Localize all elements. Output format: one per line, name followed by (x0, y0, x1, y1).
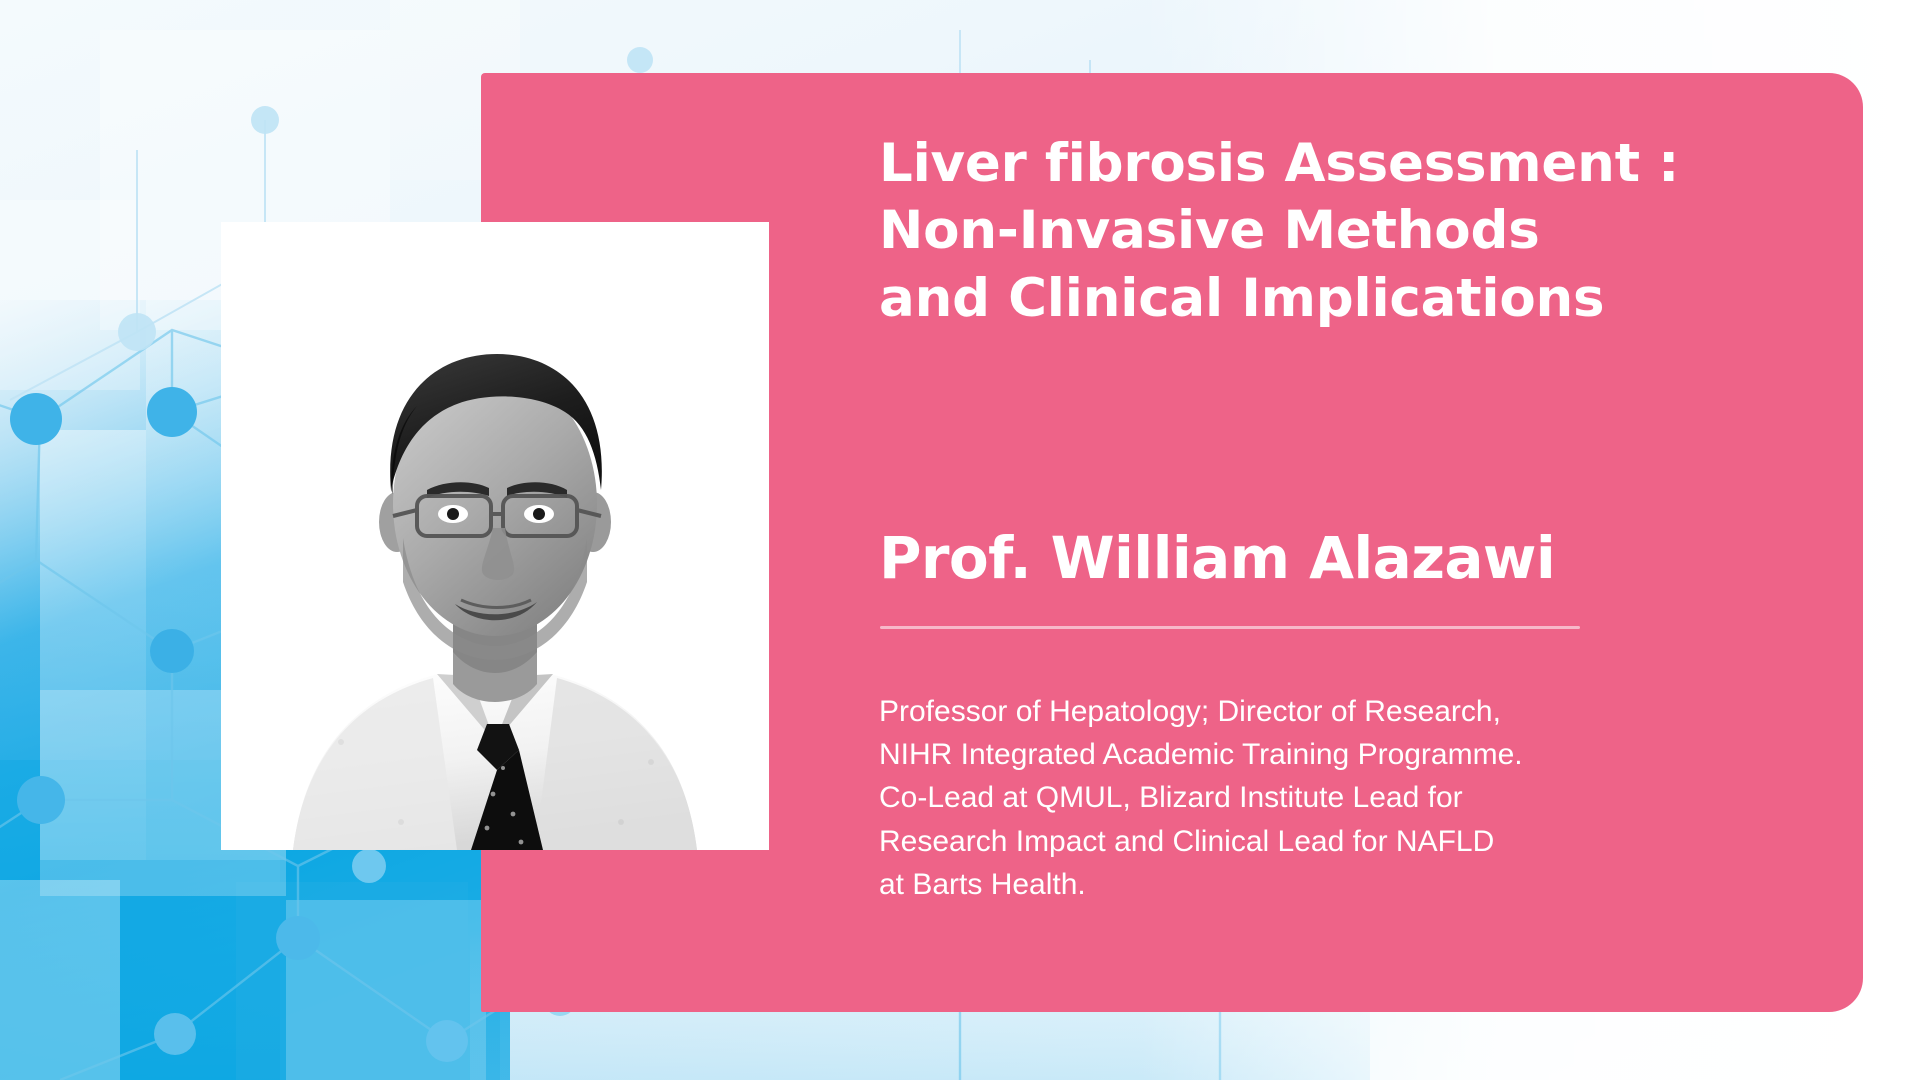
slide-canvas: Liver fibrosis Assessment : Non-Invasive… (0, 0, 1920, 1080)
speaker-name: Prof. William Alazawi (879, 528, 1819, 589)
speaker-portrait-photo (221, 222, 769, 850)
portrait-image (221, 222, 769, 850)
card-content: Liver fibrosis Assessment : Non-Invasive… (879, 130, 1819, 332)
speaker-bio: Professor of Hepatology; Director of Res… (879, 690, 1815, 906)
name-divider (880, 626, 1580, 629)
talk-title: Liver fibrosis Assessment : Non-Invasive… (879, 130, 1819, 332)
